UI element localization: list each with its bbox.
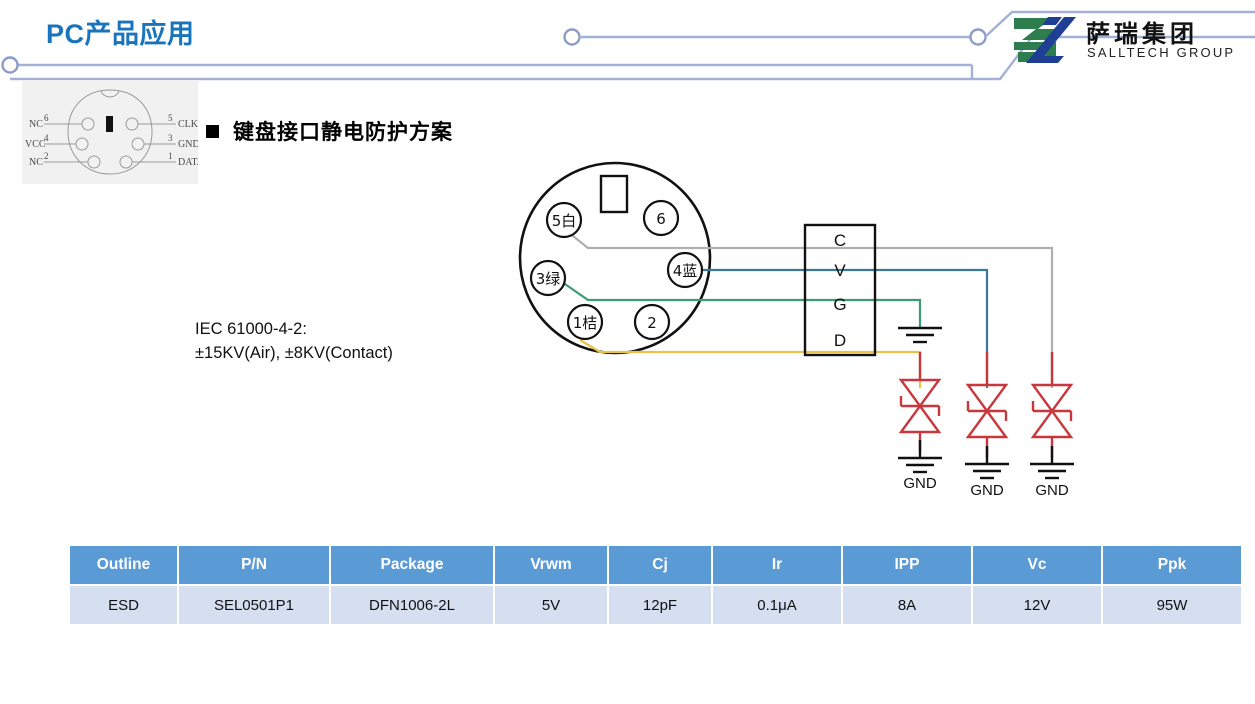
wire-vcc: [700, 270, 987, 388]
pin-label-6: 6: [656, 210, 666, 228]
cell-ir: 0.1μA: [712, 585, 842, 625]
ground-label-2: GND: [970, 482, 1004, 499]
decor-node-left-icon: [3, 58, 18, 73]
table-row: ESD SEL0501P1 DFN1006-2L 5V 12pF 0.1μA 8…: [69, 585, 1242, 625]
spec-table: Outline P/N Package Vrwm Cj Ir IPP Vc Pp…: [68, 544, 1243, 626]
pin-label-1: 1桔: [573, 314, 598, 332]
column-header-cj: Cj: [608, 545, 712, 585]
cell-ipp: 8A: [842, 585, 972, 625]
connector-pins: 5白 6 3绿 4蓝 1桔 2: [531, 201, 702, 339]
logo-english-name: SALLTECH GROUP: [1087, 45, 1235, 60]
page-title: PC产品应用: [46, 12, 195, 51]
terminal-label-d: D: [834, 331, 846, 350]
wire-gnd: [562, 282, 920, 328]
terminal-label-c: C: [834, 231, 846, 250]
salltech-logo-mark-icon: [1012, 16, 1078, 64]
svg-text:6: 6: [44, 113, 49, 123]
terminal-label-g: G: [833, 295, 846, 314]
cell-outline: ESD: [69, 585, 178, 625]
column-header-pn: P/N: [178, 545, 330, 585]
cell-cj: 12pF: [608, 585, 712, 625]
company-logo: 萨瑞集团 SALLTECH GROUP: [1012, 12, 1248, 72]
column-header-ir: Ir: [712, 545, 842, 585]
terminal-label-v: V: [834, 261, 846, 280]
decor-node-right-icon: [971, 30, 986, 45]
ground-symbol-upper-icon: [898, 328, 942, 342]
pin-label-2: 2: [647, 314, 657, 332]
ground-label-1: GND: [903, 475, 937, 492]
logo-chinese-name: 萨瑞集团: [1086, 14, 1198, 49]
column-header-package: Package: [330, 545, 494, 585]
column-header-ppk: Ppk: [1102, 545, 1242, 585]
decor-node-mid-icon: [565, 30, 580, 45]
svg-text:NC: NC: [29, 119, 43, 130]
slide-canvas: PC产品应用 萨瑞集团 SALLTECH GROUP NCVCCNC CLKGN…: [0, 0, 1255, 704]
column-header-vrwm: Vrwm: [494, 545, 608, 585]
pin-label-4: 4蓝: [673, 262, 698, 280]
ground-label-3: GND: [1035, 482, 1069, 499]
cell-pn: SEL0501P1: [178, 585, 330, 625]
svg-text:CLK: CLK: [178, 119, 198, 130]
square-bullet-icon: [206, 125, 219, 138]
cell-vrwm: 5V: [494, 585, 608, 625]
tvs-diode-group: GND GND: [898, 352, 1074, 499]
column-header-ipp: IPP: [842, 545, 972, 585]
esd-protection-schematic: 5白 6 3绿 4蓝 1桔 2 C V G D: [0, 140, 1255, 520]
svg-text:5: 5: [168, 113, 173, 123]
column-header-outline: Outline: [69, 545, 178, 585]
cell-ppk: 95W: [1102, 585, 1242, 625]
pin-label-3: 3绿: [536, 270, 561, 288]
column-header-vc: Vc: [972, 545, 1102, 585]
cell-vc: 12V: [972, 585, 1102, 625]
cell-package: DFN1006-2L: [330, 585, 494, 625]
pin-label-5: 5白: [552, 212, 577, 230]
table-header-row: Outline P/N Package Vrwm Cj Ir IPP Vc Pp…: [69, 545, 1242, 585]
connector-keyway-icon: [601, 176, 627, 212]
wire-data: [580, 340, 920, 388]
